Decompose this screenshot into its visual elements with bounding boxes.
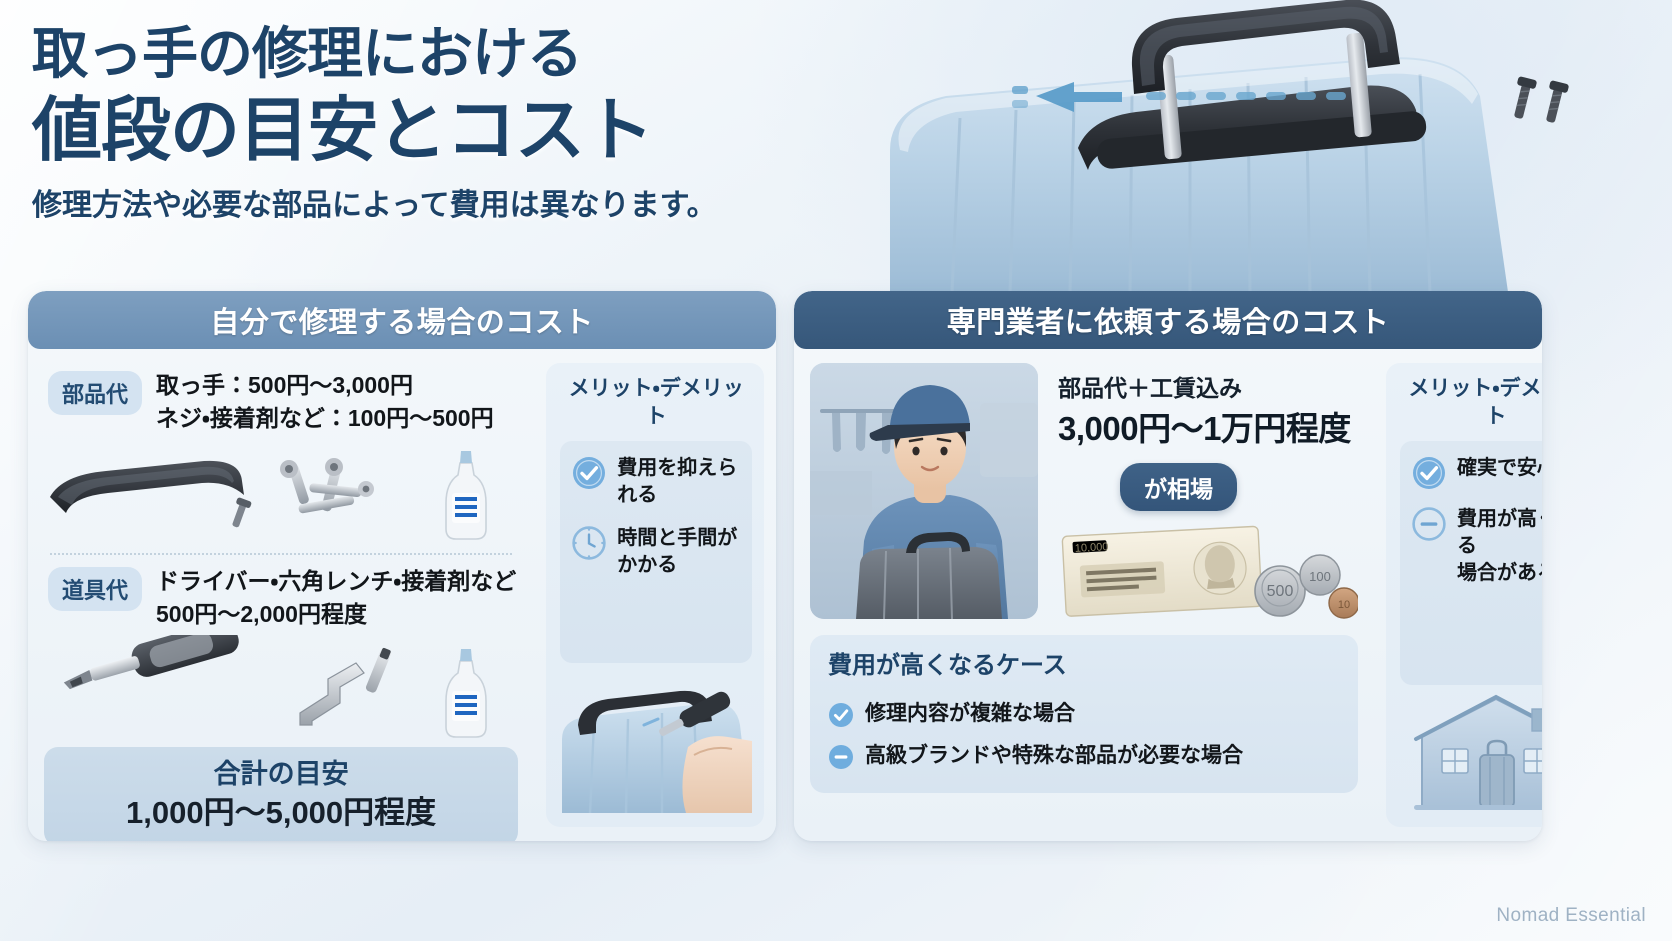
check-circle-icon <box>1412 456 1446 490</box>
merit-title: メリット・デメリット <box>1400 375 1542 441</box>
parts-illustration <box>44 439 518 543</box>
section-divider <box>50 553 512 555</box>
glue-bottle-icon <box>446 451 486 539</box>
check-circle-icon <box>572 456 606 490</box>
tool-cost-values: ドライバー・六角レンチ・接着剤など 500円〜2,000円程度 <box>156 565 516 631</box>
subtitle: 修理方法や必要な部品によって費用は異なります。 <box>32 186 717 226</box>
svg-text:10: 10 <box>1338 599 1350 611</box>
cost-row-tools: 道具代 ドライバー・六角レンチ・接着剤など 500円〜2,000円程度 <box>44 559 518 631</box>
repair-shop-illustration <box>1400 685 1542 813</box>
case-item: 高級ブランドや特殊な部品が必要な場合 <box>828 735 1342 777</box>
svg-text:100: 100 <box>1309 569 1331 584</box>
total-label: 合計の目安 <box>54 756 508 792</box>
watermark: Nomad Essential <box>1496 905 1646 927</box>
merit-item: 費用が高くなる 場合がある <box>1412 506 1542 587</box>
tool-cost-line-2: 500円〜2,000円程度 <box>156 598 516 631</box>
small-screw-icon <box>228 497 252 529</box>
diy-merit-column: メリット・デメリット 費用を抑えられる <box>546 363 764 827</box>
professional-merit-column: メリット・デメリット 確実で安心 <box>1386 363 1542 827</box>
header: 取っ手の修理における 値段の目安とコスト 修理方法や必要な部品によって費用は異な… <box>32 20 832 226</box>
diy-repair-illustration <box>560 663 752 813</box>
professional-price-block: 部品代＋工賃込み 3,000円〜1万円程度 が相場 <box>1052 363 1358 621</box>
price-value: 3,000円〜1万円程度 <box>1058 405 1358 453</box>
coin-100: 100 <box>1300 555 1340 595</box>
minus-circle-icon <box>828 744 854 770</box>
panel-left-body: 部品代 取っ手：500円〜3,000円 ネジ・接着剤など：100円〜500円 <box>28 349 776 841</box>
parts-cost-line-1: 取っ手：500円〜3,000円 <box>156 369 494 402</box>
merit-list: 確実で安心 費用が高くなる 場合がある <box>1400 441 1542 685</box>
total-value: 1,000円〜5,000円程度 <box>54 792 508 834</box>
case-item-label: 修理内容が複雑な場合 <box>865 700 1075 728</box>
panel-left-heading: 自分で修理する場合のコスト <box>28 291 776 349</box>
coin-10: 10 <box>1329 588 1358 618</box>
hex-key-icon <box>300 663 364 725</box>
svg-text:10,000: 10,000 <box>1075 541 1109 555</box>
merit-item-label: 費用を抑えられる <box>617 455 742 509</box>
money-illustration: 10,000 500 <box>1058 517 1358 621</box>
svg-text:500: 500 <box>1267 583 1294 600</box>
merit-item: 時間と手間が かかる <box>572 525 742 579</box>
case-item-label: 高級ブランドや特殊な部品が必要な場合 <box>865 742 1243 770</box>
check-circle-icon <box>828 702 854 728</box>
tool-cost-line-1: ドライバー・六角レンチ・接着剤など <box>156 565 516 598</box>
minus-circle-icon <box>1412 507 1446 541</box>
glue-bottle-icon <box>446 649 486 737</box>
clock-icon <box>572 526 606 560</box>
merit-item: 確実で安心 <box>1412 455 1542 490</box>
merit-title: メリット・デメリット <box>560 375 752 441</box>
parts-cost-values: 取っ手：500円〜3,000円 ネジ・接着剤など：100円〜500円 <box>156 369 494 435</box>
market-rate-badge: が相場 <box>1120 463 1237 511</box>
parts-cost-tag: 部品代 <box>48 371 142 415</box>
infographic-canvas: 取っ手の修理における 値段の目安とコスト 修理方法や必要な部品によって費用は異な… <box>0 0 1672 941</box>
suitcase-handle-illustration <box>860 0 1672 292</box>
merit-card-diy: メリット・デメリット 費用を抑えられる <box>546 363 764 827</box>
merit-list: 費用を抑えられる 時間と手間が かかる <box>560 441 752 663</box>
professional-top-row: 部品代＋工賃込み 3,000円〜1万円程度 が相場 <box>810 363 1358 621</box>
screwdriver-icon <box>59 635 241 700</box>
repair-technician-photo <box>810 363 1038 619</box>
panel-professional-cost: 専門業者に依頼する場合のコスト <box>794 291 1542 841</box>
handle-part-icon <box>50 461 244 513</box>
title-line-1: 取っ手の修理における <box>32 20 832 88</box>
merit-item-label: 時間と手間が かかる <box>617 525 737 579</box>
panel-right-body: 部品代＋工賃込み 3,000円〜1万円程度 が相場 <box>794 349 1542 841</box>
professional-cost-column: 部品代＋工賃込み 3,000円〜1万円程度 が相場 <box>810 363 1358 827</box>
diy-cost-column: 部品代 取っ手：500円〜3,000円 ネジ・接着剤など：100円〜500円 <box>44 363 518 827</box>
panel-diy-cost: 自分で修理する場合のコスト 部品代 取っ手：500円〜3,000円 ネジ・接着剤… <box>28 291 776 841</box>
coin-500: 500 <box>1255 566 1305 616</box>
tools-illustration <box>44 635 518 747</box>
panel-right-heading: 専門業者に依頼する場合のコスト <box>794 291 1542 349</box>
cases-title: 費用が高くなるケース <box>828 649 1342 693</box>
driver-bit-icon <box>365 647 392 694</box>
price-label: 部品代＋工賃込み <box>1058 363 1358 405</box>
expensive-cases-box: 費用が高くなるケース 修理内容が複雑な場合 <box>810 635 1358 793</box>
merit-item-label: 費用が高くなる 場合がある <box>1457 506 1542 587</box>
case-item: 修理内容が複雑な場合 <box>828 693 1342 735</box>
bolts-icon <box>280 458 374 514</box>
tool-cost-tag: 道具代 <box>48 567 142 611</box>
merit-item-label: 確実で安心 <box>1457 455 1542 482</box>
merit-card-professional: メリット・デメリット 確実で安心 <box>1386 363 1542 827</box>
cost-row-parts: 部品代 取っ手：500円〜3,000円 ネジ・接着剤など：100円〜500円 <box>44 363 518 435</box>
merit-item: 費用を抑えられる <box>572 455 742 509</box>
title-line-2: 値段の目安とコスト <box>32 90 832 170</box>
parts-cost-line-2: ネジ・接着剤など：100円〜500円 <box>156 402 494 435</box>
total-estimate-box: 合計の目安 1,000円〜5,000円程度 <box>44 747 518 841</box>
